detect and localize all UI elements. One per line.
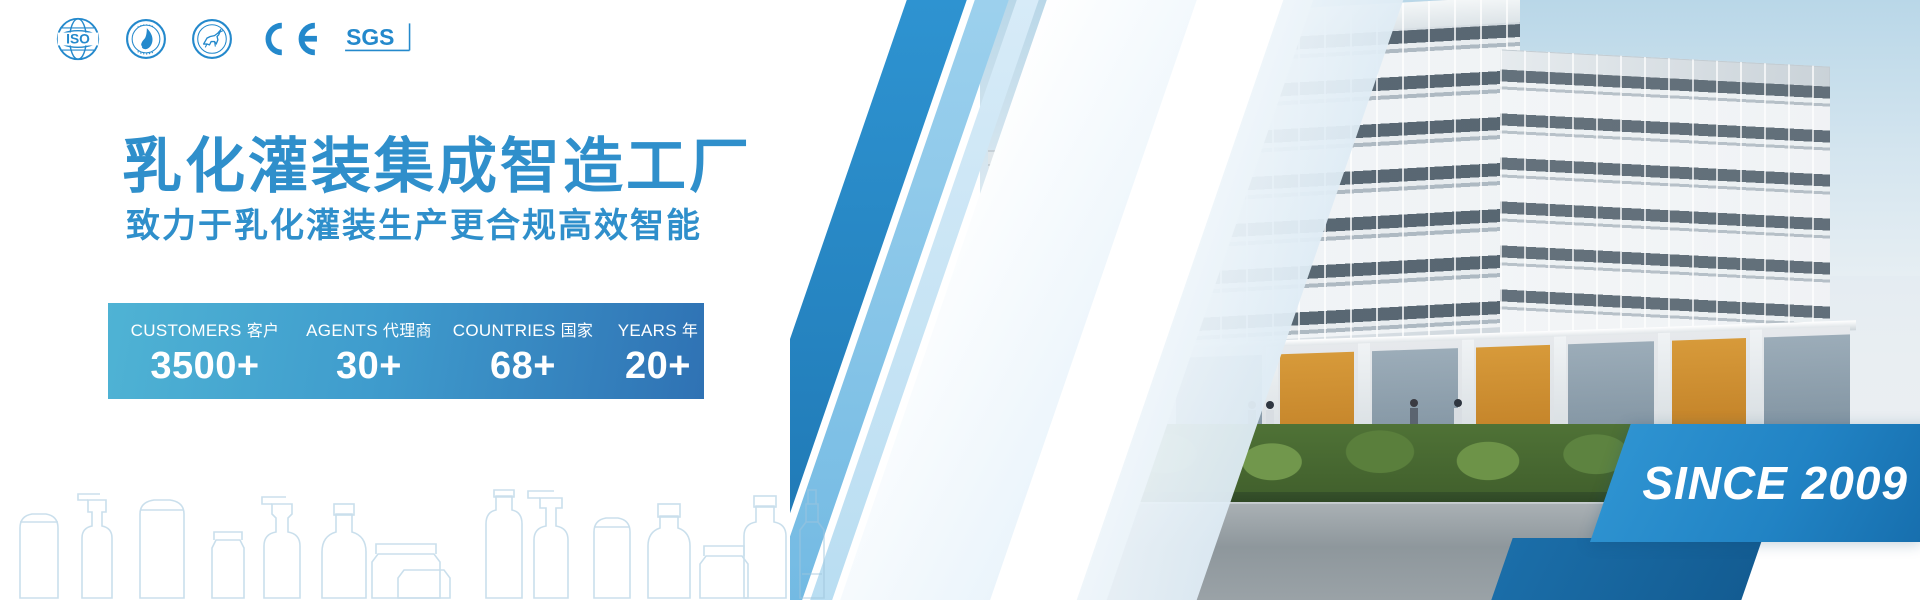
stat-value: 30+	[298, 347, 440, 385]
antelope-emblem-icon	[191, 18, 233, 60]
stat-label: YEARS 年	[606, 317, 710, 341]
since-badge-shadow	[1491, 538, 1762, 600]
cert-gb	[191, 18, 233, 60]
promo-banner: SINCE 2009 ISO	[0, 0, 1920, 600]
page-title: 乳化灌装集成智造工厂	[122, 118, 752, 205]
certification-badges: ISO	[55, 16, 421, 62]
stat-label-cn: 年	[682, 323, 698, 340]
cosmetic-containers-outline	[0, 470, 980, 600]
stat-agents: AGENTS 代理商 30+	[294, 317, 444, 385]
stat-label: AGENTS 代理商	[298, 317, 440, 341]
svg-text:ISO: ISO	[66, 32, 90, 47]
stat-years: YEARS 年 20+	[602, 317, 714, 385]
stat-value: 3500+	[120, 347, 290, 385]
stat-label: COUNTRIES 国家	[448, 317, 598, 341]
stat-label-en: YEARS	[618, 321, 677, 340]
ce-mark-icon	[257, 19, 319, 59]
stat-value: 68+	[448, 347, 598, 385]
since-badge-text: SINCE 2009	[1642, 456, 1908, 510]
cert-sgs: SGS	[343, 18, 421, 60]
stat-countries: COUNTRIES 国家 68+	[444, 317, 602, 385]
stat-label-en: COUNTRIES	[453, 321, 556, 340]
stat-customers: CUSTOMERS 客户 3500+	[116, 317, 294, 385]
stat-label: CUSTOMERS 客户	[120, 317, 290, 341]
stat-value: 20+	[606, 347, 710, 385]
flame-emblem-icon	[125, 18, 167, 60]
cert-cnas	[125, 18, 167, 60]
cert-iso: ISO	[55, 16, 101, 62]
stat-label-en: AGENTS	[306, 321, 378, 340]
stat-label-cn: 代理商	[383, 323, 432, 340]
stat-label-en: CUSTOMERS	[131, 321, 242, 340]
stats-panel: CUSTOMERS 客户 3500+ AGENTS 代理商 30+ COUNTR…	[108, 303, 704, 399]
cert-ce	[257, 19, 319, 59]
stat-label-cn: 国家	[561, 323, 594, 340]
iso-globe-icon: ISO	[55, 16, 101, 62]
since-badge: SINCE 2009	[1590, 424, 1920, 542]
svg-text:SGS: SGS	[346, 24, 394, 50]
product-silhouettes	[0, 470, 980, 600]
page-subtitle: 致力于乳化灌装生产更合规高效智能	[126, 198, 702, 247]
stat-label-cn: 客户	[247, 323, 280, 340]
sgs-mark-icon: SGS	[343, 18, 421, 60]
